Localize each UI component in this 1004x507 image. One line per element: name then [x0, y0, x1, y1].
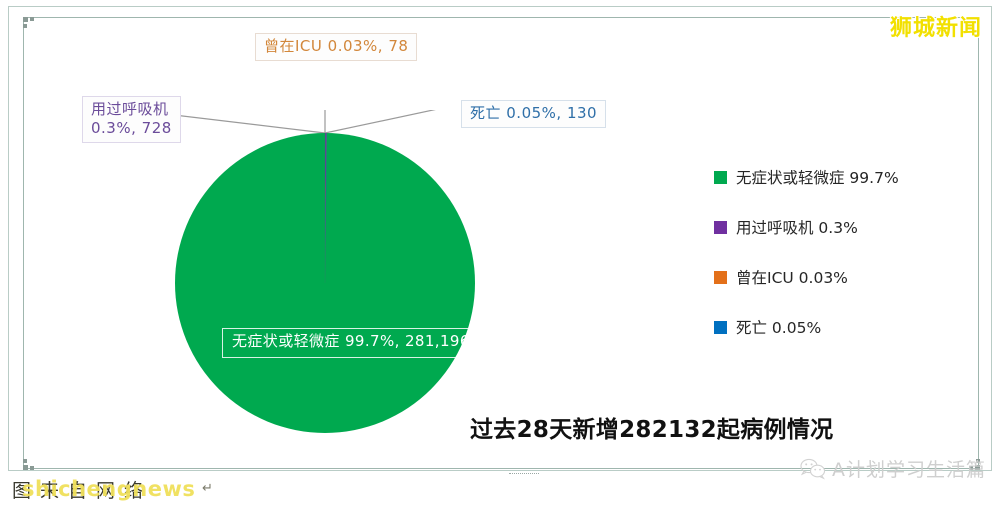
legend-label-ventilator: 用过呼吸机 0.3%: [736, 216, 858, 238]
legend-label-mild: 无症状或轻微症 99.7%: [736, 166, 899, 188]
legend-item-ventilator[interactable]: 用过呼吸机 0.3%: [714, 216, 899, 238]
legend-swatch-death-icon: [714, 321, 727, 334]
pie-data-label-icu-text: 曾在ICU 0.03%, 78: [264, 37, 408, 56]
legend-swatch-icu-icon: [714, 271, 727, 284]
pie-data-label-mild: 无症状或轻微症 99.7%, 281,196: [222, 328, 480, 358]
pie-data-label-ventilator: 用过呼吸机 0.3%, 728: [82, 96, 181, 143]
chart-legend: 无症状或轻微症 99.7% 用过呼吸机 0.3% 曾在ICU 0.03% 死亡 …: [714, 166, 899, 366]
pie-chart: 无症状或轻微症 99.7%, 281,196 曾在ICU 0.03%, 78 用…: [0, 0, 1004, 507]
wechat-icon: [800, 458, 826, 480]
pie-data-label-mild-line1: 无症状或轻微症: [232, 332, 340, 350]
screenshot-canvas: 无症状或轻微症 99.7%, 281,196 曾在ICU 0.03%, 78 用…: [0, 0, 1004, 507]
brand-logo-text: 狮城新闻: [890, 10, 982, 42]
legend-item-icu[interactable]: 曾在ICU 0.03%: [714, 266, 899, 288]
wechat-watermark: A计划学习生活篇: [800, 455, 986, 482]
pie-data-label-death-text: 死亡 0.05%, 130: [470, 104, 597, 123]
bottom-left-watermark: 图来自网络 shichengnews ↵: [6, 474, 306, 504]
legend-swatch-ventilator-icon: [714, 221, 727, 234]
pie-data-label-death: 死亡 0.05%, 130: [461, 100, 606, 128]
legend-item-death[interactable]: 死亡 0.05%: [714, 316, 899, 338]
pie-chart-graphic: [150, 110, 550, 450]
chart-headline: 过去28天新增282132起病例情况: [470, 410, 833, 444]
pie-data-label-ventilator-line2: 0.3%, 728: [91, 119, 172, 138]
leader-line-death: [325, 110, 480, 133]
legend-label-death: 死亡 0.05%: [736, 316, 821, 338]
legend-item-mild[interactable]: 无症状或轻微症 99.7%: [714, 166, 899, 188]
pie-data-label-icu: 曾在ICU 0.03%, 78: [255, 33, 417, 61]
legend-label-icu: 曾在ICU 0.03%: [736, 266, 848, 288]
pie-data-label-mild-line2: 99.7%, 281,196: [345, 332, 470, 350]
site-watermark-text: shichengnews: [22, 477, 195, 501]
wechat-watermark-text: A计划学习生活篇: [832, 455, 986, 482]
leader-lines: [150, 110, 480, 133]
pilcrow-mark: ↵: [202, 480, 213, 496]
pie-data-label-ventilator-line1: 用过呼吸机: [91, 100, 172, 119]
legend-swatch-mild-icon: [714, 171, 727, 184]
